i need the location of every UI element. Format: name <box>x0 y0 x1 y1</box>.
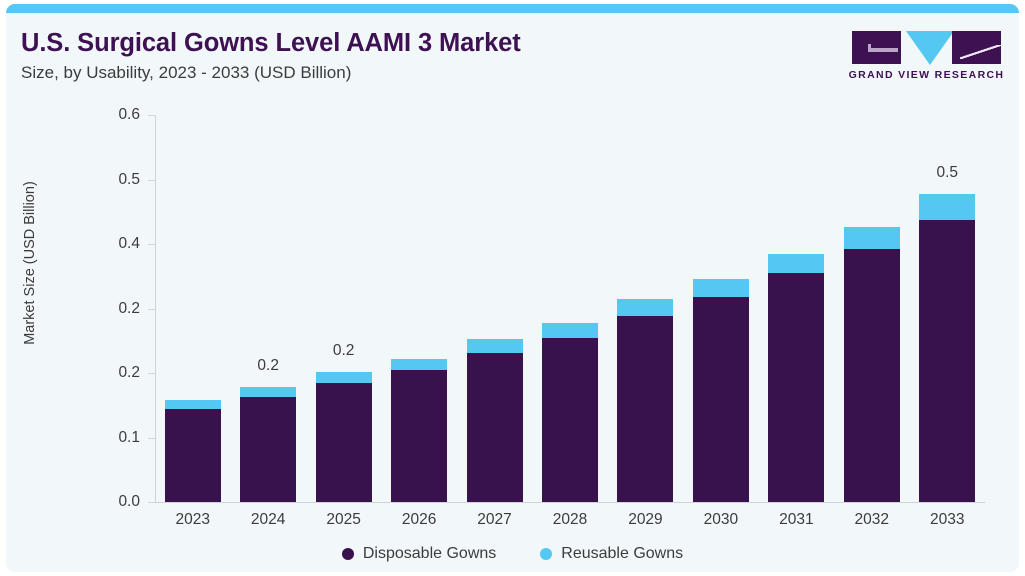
bar-segment-reusable-gowns[interactable] <box>467 339 523 353</box>
bar-stack[interactable]: 2029 <box>617 299 673 502</box>
bar-segment-disposable-gowns[interactable] <box>542 338 598 502</box>
x-axis-line <box>155 502 985 503</box>
bar-segment-disposable-gowns[interactable] <box>240 397 296 502</box>
legend-label: Disposable Gowns <box>363 545 496 563</box>
bar-segment-disposable-gowns[interactable] <box>467 353 523 502</box>
bar-segment-disposable-gowns[interactable] <box>919 220 975 502</box>
screenshot-frame: U.S. Surgical Gowns Level AAMI 3 Market … <box>0 0 1025 576</box>
bar-segment-reusable-gowns[interactable] <box>316 372 372 383</box>
bar-segment-reusable-gowns[interactable] <box>165 400 221 409</box>
bar-segment-disposable-gowns[interactable] <box>617 316 673 502</box>
bar-stack[interactable]: 2024 <box>240 387 296 502</box>
bar-segment-reusable-gowns[interactable] <box>768 254 824 273</box>
legend-dot-icon <box>540 548 552 560</box>
bar-group[interactable]: 2023 <box>155 115 230 502</box>
bar-group[interactable]: 2032 <box>834 115 909 502</box>
bar-segment-reusable-gowns[interactable] <box>391 359 447 371</box>
bar-group[interactable]: 2030 <box>683 115 758 502</box>
bar-value-label: 0.5 <box>936 164 958 182</box>
bar-segment-reusable-gowns[interactable] <box>919 194 975 220</box>
bar-segment-disposable-gowns[interactable] <box>693 297 749 502</box>
bar-group[interactable]: 20250.2 <box>306 115 381 502</box>
y-axis-tick: 0.5 <box>148 180 155 181</box>
x-axis-tick-label: 2027 <box>477 511 511 529</box>
bar-group[interactable]: 2026 <box>381 115 456 502</box>
bar-stack[interactable]: 2023 <box>165 400 221 502</box>
bar-segment-disposable-gowns[interactable] <box>165 409 221 502</box>
bar-segment-reusable-gowns[interactable] <box>542 323 598 338</box>
y-axis-tick: 0.0 <box>148 502 155 503</box>
y-axis-tick: 0.4 <box>148 244 155 245</box>
y-axis-tick-label: 0.1 <box>118 429 140 447</box>
bar-value-label: 0.2 <box>333 342 355 360</box>
stacked-bar-chart: Market Size (USD Billion) 0.00.10.20.20.… <box>6 13 1019 572</box>
bar-group[interactable]: 2027 <box>457 115 532 502</box>
x-axis-tick-label: 2031 <box>779 511 813 529</box>
y-axis-tick-label: 0.0 <box>118 493 140 511</box>
x-axis-tick-label: 2032 <box>855 511 889 529</box>
bar-group[interactable]: 20330.5 <box>910 115 985 502</box>
bar-group[interactable]: 2031 <box>759 115 834 502</box>
x-axis-tick-label: 2025 <box>326 511 360 529</box>
bar-segment-reusable-gowns[interactable] <box>240 387 296 397</box>
chart-legend: Disposable GownsReusable Gowns <box>6 545 1019 563</box>
bar-segment-reusable-gowns[interactable] <box>617 299 673 316</box>
y-axis-tick-label: 0.4 <box>118 235 140 253</box>
bar-segment-disposable-gowns[interactable] <box>316 383 372 502</box>
bar-segment-reusable-gowns[interactable] <box>844 227 900 249</box>
legend-dot-icon <box>342 548 354 560</box>
bar-stack[interactable]: 2032 <box>844 227 900 502</box>
bar-group[interactable]: 2029 <box>608 115 683 502</box>
bar-segment-reusable-gowns[interactable] <box>693 279 749 296</box>
bar-segment-disposable-gowns[interactable] <box>391 370 447 502</box>
y-axis-tick-label: 0.5 <box>118 171 140 189</box>
bar-value-label: 0.2 <box>257 357 279 375</box>
bar-stack[interactable]: 2028 <box>542 323 598 502</box>
x-axis-tick-label: 2028 <box>553 511 587 529</box>
x-axis-tick-label: 2029 <box>628 511 662 529</box>
bar-stack[interactable]: 2033 <box>919 194 975 502</box>
x-axis-tick-label: 2030 <box>704 511 738 529</box>
bar-stack[interactable]: 2030 <box>693 279 749 502</box>
chart-card: U.S. Surgical Gowns Level AAMI 3 Market … <box>6 4 1019 572</box>
bar-stack[interactable]: 2025 <box>316 372 372 502</box>
x-axis-tick-label: 2033 <box>930 511 964 529</box>
legend-item[interactable]: Disposable Gowns <box>342 545 496 563</box>
y-axis-tick-label: 0.2 <box>118 364 140 382</box>
y-axis-tick: 0.1 <box>148 438 155 439</box>
y-axis-tick: 0.2 <box>148 309 155 310</box>
y-axis-tick: 0.2 <box>148 373 155 374</box>
bar-group[interactable]: 20240.2 <box>230 115 305 502</box>
bar-segment-disposable-gowns[interactable] <box>768 273 824 502</box>
y-axis-tick: 0.6 <box>148 115 155 116</box>
bar-segment-disposable-gowns[interactable] <box>844 249 900 502</box>
x-axis-tick-label: 2026 <box>402 511 436 529</box>
y-axis-label: Market Size (USD Billion) <box>22 143 38 383</box>
bar-stack[interactable]: 2031 <box>768 254 824 502</box>
bar-stack[interactable]: 2027 <box>467 339 523 502</box>
bar-stack[interactable]: 2026 <box>391 359 447 502</box>
bar-group[interactable]: 2028 <box>532 115 607 502</box>
x-axis-tick-label: 2023 <box>175 511 209 529</box>
plot-area: 0.00.10.20.20.40.50.6 202320240.220250.2… <box>155 115 985 502</box>
legend-label: Reusable Gowns <box>561 545 683 563</box>
y-axis-tick-label: 0.2 <box>118 300 140 318</box>
x-axis-tick-label: 2024 <box>251 511 285 529</box>
y-axis-tick-label: 0.6 <box>118 106 140 124</box>
legend-item[interactable]: Reusable Gowns <box>540 545 683 563</box>
